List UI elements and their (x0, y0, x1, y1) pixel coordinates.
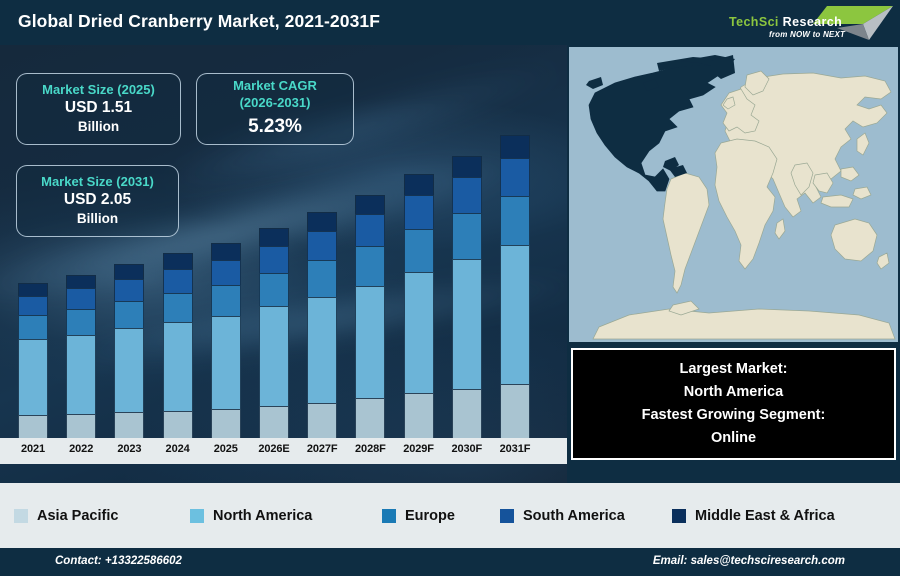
legend-swatch-icon (14, 509, 28, 523)
legend-swatch-icon (500, 509, 514, 523)
email-text: Email: sales@techsciresearch.com (653, 555, 845, 567)
chart-panel: Market Size (2025) USD 1.51 Billion Mark… (0, 45, 567, 483)
x-axis-label-2023: 2023 (106, 443, 152, 455)
bar-2028F (355, 195, 385, 457)
page-title: Global Dried Cranberry Market, 2021-2031… (18, 11, 380, 32)
bar-segment-middle-east-africa (18, 283, 48, 297)
bar-2029F (404, 174, 434, 457)
bar-segment-south-america (18, 296, 48, 316)
bar-segment-europe (404, 229, 434, 273)
world-map (569, 47, 898, 342)
bar-2023 (114, 264, 144, 457)
x-axis-label-2021: 2021 (10, 443, 56, 455)
right-panel: Largest Market: North America Fastest Gr… (567, 45, 900, 483)
bar-segment-europe (211, 285, 241, 316)
x-axis-label-2024: 2024 (155, 443, 201, 455)
bar-segment-north-america (500, 245, 530, 385)
logo-text-research: Research (779, 15, 842, 29)
bar-segment-north-america (66, 335, 96, 415)
bar-segment-south-america (452, 177, 482, 215)
bar-segment-middle-east-africa (452, 156, 482, 178)
bar-2025 (211, 243, 241, 457)
bar-segment-middle-east-africa (307, 212, 337, 232)
bar-segment-south-america (259, 246, 289, 274)
bar-segment-south-america (114, 279, 144, 303)
stacked-bar-chart (0, 45, 567, 483)
bar-segment-middle-east-africa (259, 228, 289, 247)
key-highlights-box: Largest Market: North America Fastest Gr… (571, 348, 896, 460)
bar-segment-south-america (355, 214, 385, 247)
bar-segment-europe (163, 293, 193, 323)
x-axis-label-2031F: 2031F (492, 443, 538, 455)
contact-text: Contact: +13322586602 (55, 555, 182, 567)
bar-segment-europe (18, 315, 48, 340)
legend-item-north-america[interactable]: North America (190, 508, 312, 524)
legend-label: Asia Pacific (37, 508, 118, 524)
bar-2027F (307, 212, 337, 457)
legend-label: Europe (405, 508, 455, 524)
bar-segment-europe (114, 301, 144, 329)
bar-segment-europe (500, 196, 530, 246)
x-axis-label-2026E: 2026E (251, 443, 297, 455)
logo-tagline: from NOW to NEXT (769, 30, 845, 39)
logo-wordmark: TechSci Research (729, 15, 842, 29)
legend-label: North America (213, 508, 312, 524)
bar-2030F (452, 156, 482, 457)
header-bar: Global Dried Cranberry Market, 2021-2031… (0, 0, 900, 45)
bar-2031F (500, 135, 530, 457)
logo-text-techsci: TechSci (729, 15, 779, 29)
chart-legend: Asia PacificNorth AmericaEuropeSouth Ame… (0, 483, 900, 548)
x-axis-label-2028F: 2028F (347, 443, 393, 455)
x-axis-label-2025: 2025 (203, 443, 249, 455)
bar-segment-south-america (211, 260, 241, 287)
bar-segment-north-america (114, 328, 144, 413)
bar-segment-middle-east-africa (355, 195, 385, 215)
legend-swatch-icon (190, 509, 204, 523)
footer-bar: Contact: +13322586602 Email: sales@techs… (0, 548, 900, 576)
x-axis-labels: 202120222023202420252026E2027F2028F2029F… (0, 438, 567, 464)
legend-swatch-icon (672, 509, 686, 523)
fastest-segment-label: Fastest Growing Segment: (642, 404, 826, 427)
bar-segment-south-america (500, 158, 530, 197)
bar-2022 (66, 275, 96, 457)
bar-segment-middle-east-africa (66, 275, 96, 289)
bar-segment-north-america (404, 272, 434, 394)
legend-label: South America (523, 508, 625, 524)
bar-segment-north-america (259, 306, 289, 406)
legend-item-europe[interactable]: Europe (382, 508, 455, 524)
x-axis-label-2027F: 2027F (299, 443, 345, 455)
bar-segment-north-america (307, 297, 337, 404)
legend-swatch-icon (382, 509, 396, 523)
bar-segment-europe (355, 246, 385, 287)
infographic-root: Global Dried Cranberry Market, 2021-2031… (0, 0, 900, 576)
bar-segment-europe (307, 260, 337, 298)
bar-segment-south-america (163, 269, 193, 294)
bar-segment-south-america (66, 288, 96, 310)
fastest-segment-value: Online (711, 427, 756, 450)
bar-segment-middle-east-africa (404, 174, 434, 196)
bar-segment-north-america (211, 316, 241, 410)
bar-segment-middle-east-africa (211, 243, 241, 260)
bar-2024 (163, 253, 193, 457)
bar-segment-south-america (404, 195, 434, 230)
x-axis-label-2030F: 2030F (444, 443, 490, 455)
largest-market-label: Largest Market: (680, 358, 788, 381)
bar-segment-north-america (355, 286, 385, 399)
bar-segment-europe (259, 273, 289, 308)
bar-segment-north-america (18, 339, 48, 416)
bar-segment-middle-east-africa (114, 264, 144, 280)
bar-2026E (259, 228, 289, 457)
legend-item-south-america[interactable]: South America (500, 508, 625, 524)
bar-2021 (18, 283, 48, 457)
bar-segment-north-america (163, 322, 193, 411)
techsci-research-logo: TechSci Research from NOW to NEXT (717, 2, 897, 44)
legend-label: Middle East & Africa (695, 508, 835, 524)
world-map-icon (569, 47, 898, 342)
bar-segment-south-america (307, 231, 337, 261)
bar-segment-north-america (452, 259, 482, 389)
legend-item-middle-east-africa[interactable]: Middle East & Africa (672, 508, 835, 524)
x-axis-label-2022: 2022 (58, 443, 104, 455)
legend-item-asia-pacific[interactable]: Asia Pacific (14, 508, 118, 524)
bar-segment-middle-east-africa (500, 135, 530, 159)
bar-segment-europe (452, 213, 482, 260)
x-axis-label-2029F: 2029F (396, 443, 442, 455)
bar-segment-europe (66, 309, 96, 336)
largest-market-value: North America (684, 381, 783, 404)
bar-segment-middle-east-africa (163, 253, 193, 270)
